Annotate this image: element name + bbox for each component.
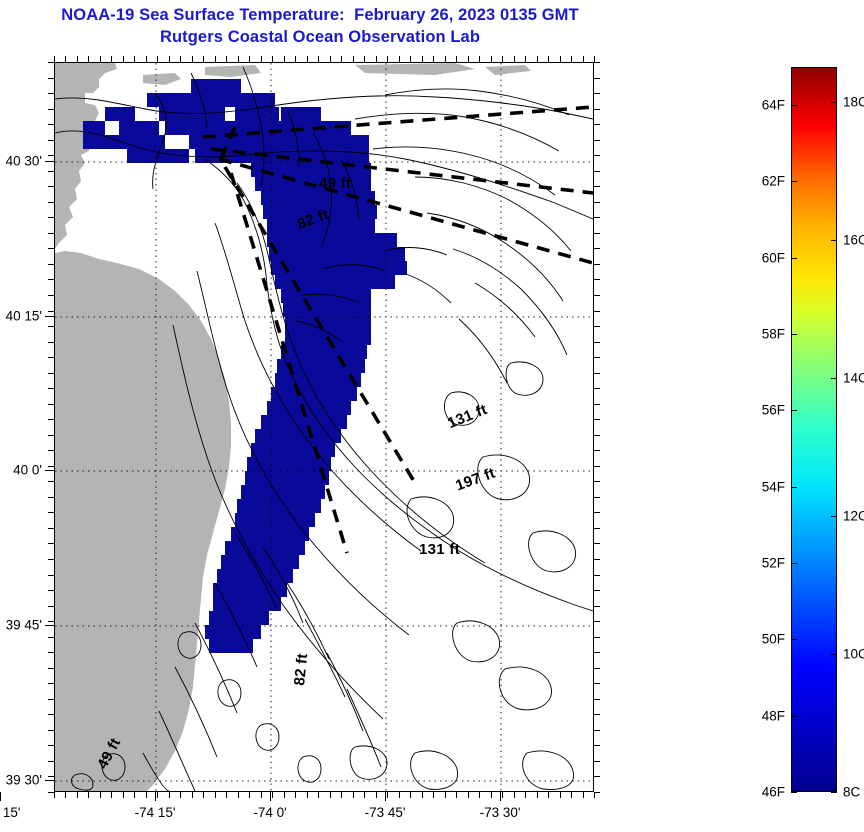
axis-tick-x (479, 792, 480, 798)
axis-tick-x (284, 56, 285, 62)
axis-tick-x (330, 56, 331, 62)
depth-label-131ft-mid: 131 ft (419, 541, 460, 558)
axis-tick-y (48, 295, 54, 296)
axis-tick-x (548, 792, 549, 798)
colorbar-label-fahrenheit: 62F (747, 174, 785, 189)
axis-tick-x (54, 792, 55, 798)
colorbar-tick-f (791, 334, 797, 335)
axis-tick-y (594, 311, 600, 312)
axis-tick-y (594, 171, 600, 172)
axis-tick-x (88, 792, 89, 798)
colorbar-label-celsius: 18C (843, 94, 864, 109)
axis-tick-y (594, 792, 600, 793)
axis-tick-x (376, 56, 377, 62)
axis-tick-x (330, 792, 331, 798)
axis-tick-x (307, 792, 308, 798)
colorbar-tick-f (791, 410, 797, 411)
axis-tick-x (226, 792, 227, 798)
colorbar-label-fahrenheit: 48F (747, 708, 785, 723)
axis-tick-x (537, 56, 538, 62)
axis-tick-y (594, 559, 600, 560)
axis-tick-y (48, 373, 54, 374)
axis-tick-y (594, 202, 600, 203)
y-axis-label: 39 45' (0, 618, 42, 633)
axis-tick-y (48, 435, 54, 436)
colorbar-label-fahrenheit: 58F (747, 327, 785, 342)
axis-tick-y (48, 404, 54, 405)
axis-tick-x (353, 56, 354, 62)
axis-tick-x (537, 792, 538, 798)
axis-tick-x (445, 792, 446, 798)
axis-tick-x (203, 792, 204, 798)
axis-tick-x (456, 792, 457, 798)
axis-tick-x (215, 792, 216, 798)
axis-tick-y (594, 419, 600, 420)
axis-tick-y (48, 606, 54, 607)
colorbar-label-celsius: 16C (843, 232, 864, 247)
axis-tick-x (364, 792, 365, 798)
axis-tick-x (341, 56, 342, 62)
page-title: NOAA-19 Sea Surface Temperature: Februar… (0, 4, 640, 48)
axis-tick-y (48, 714, 54, 715)
colorbar-tick-f (791, 105, 797, 106)
axis-tick-x (525, 56, 526, 62)
colorbar-tick-f (791, 487, 797, 488)
axis-tick-y (48, 543, 54, 544)
axis-tick-y (48, 512, 54, 513)
axis-tick-y (594, 683, 600, 684)
colorbar-label-celsius: 8C (843, 785, 860, 800)
axis-tick-y (48, 62, 54, 63)
axis-tick-x (387, 792, 388, 798)
axis-tick-x (514, 792, 515, 798)
colorbar-label-fahrenheit: 60F (747, 250, 785, 265)
axis-tick-x (146, 56, 147, 62)
axis-tick-y (594, 590, 600, 591)
axis-tick-x (468, 56, 469, 62)
axis-tick-x-major (270, 792, 271, 801)
axis-tick-x (134, 792, 135, 798)
axis-tick-y (594, 342, 600, 343)
axis-tick-x-major (385, 792, 386, 801)
axis-tick-x (422, 792, 423, 798)
axis-tick-y (48, 481, 54, 482)
colorbar-tick-c (831, 378, 837, 379)
axis-tick-y (48, 419, 54, 420)
axis-tick-y (594, 761, 600, 762)
colorbar-label-fahrenheit: 64F (747, 98, 785, 113)
colorbar-tick-c (831, 654, 837, 655)
axis-tick-y (594, 668, 600, 669)
axis-tick-y (48, 357, 54, 358)
axis-tick-y (594, 109, 600, 110)
map-canvas (55, 63, 593, 791)
axis-tick-y (594, 512, 600, 513)
axis-tick-x (491, 792, 492, 798)
axis-tick-y (48, 311, 54, 312)
axis-tick-x (65, 56, 66, 62)
axis-tick-x (445, 56, 446, 62)
axis-tick-y (48, 792, 54, 793)
colorbar-label-fahrenheit: 54F (747, 479, 785, 494)
x-axis-label: -73 30' (480, 805, 521, 820)
colorbar-tick-c (831, 102, 837, 103)
colorbar-tick-c (831, 516, 837, 517)
axis-tick-x (261, 792, 262, 798)
axis-tick-x (433, 56, 434, 62)
colorbar-tick-f (791, 792, 797, 793)
colorbar-tick-f (791, 258, 797, 259)
axis-tick-y (594, 652, 600, 653)
axis-tick-y (48, 109, 54, 110)
axis-tick-y (594, 637, 600, 638)
axis-tick-y (48, 466, 54, 467)
axis-tick-y (594, 140, 600, 141)
axis-tick-x (100, 56, 101, 62)
axis-tick-x (318, 56, 319, 62)
axis-tick-x (502, 56, 503, 62)
axis-tick-x-major (155, 792, 156, 801)
axis-tick-x (123, 792, 124, 798)
axis-tick-y (48, 388, 54, 389)
axis-tick-x (249, 56, 250, 62)
x-axis-label: -74 0' (253, 805, 286, 820)
y-axis-label: 40 15' (0, 309, 42, 324)
axis-tick-y (594, 466, 600, 467)
axis-tick-y (48, 652, 54, 653)
axis-tick-y-major (45, 780, 54, 781)
axis-tick-y (594, 78, 600, 79)
axis-tick-x (146, 792, 147, 798)
axis-tick-y (48, 776, 54, 777)
colorbar-label-celsius: 12C (843, 508, 864, 523)
axis-tick-y (594, 186, 600, 187)
axis-tick-x (180, 792, 181, 798)
axis-tick-x (65, 792, 66, 798)
axis-tick-y (48, 575, 54, 576)
axis-tick-y (48, 217, 54, 218)
axis-tick-y (48, 342, 54, 343)
axis-tick-x (180, 56, 181, 62)
axis-tick-y (48, 745, 54, 746)
colorbar-label-celsius: 14C (843, 370, 864, 385)
axis-tick-y (594, 776, 600, 777)
axis-tick-x-major (500, 792, 501, 801)
axis-tick-y (594, 357, 600, 358)
colorbar-gradient (791, 67, 837, 792)
axis-tick-x (583, 792, 584, 798)
axis-tick-x (157, 792, 158, 798)
axis-tick-y-major (45, 316, 54, 317)
y-axis-label: 40 30' (0, 154, 42, 169)
axis-tick-y (594, 404, 600, 405)
axis-tick-x (399, 56, 400, 62)
axis-tick-y (48, 637, 54, 638)
axis-tick-y (594, 543, 600, 544)
axis-tick-y (594, 62, 600, 63)
axis-tick-y (594, 295, 600, 296)
axis-tick-y (594, 326, 600, 327)
axis-tick-x (123, 56, 124, 62)
axis-tick-y (48, 683, 54, 684)
axis-tick-x (571, 56, 572, 62)
axis-tick-y (48, 621, 54, 622)
colorbar-tick-f (791, 639, 797, 640)
axis-tick-y (48, 93, 54, 94)
axis-tick-x (238, 792, 239, 798)
axis-tick-y (48, 140, 54, 141)
axis-tick-y (48, 202, 54, 203)
x-axis-label: -73 15' (0, 805, 20, 820)
axis-tick-y (594, 124, 600, 125)
axis-tick-x (491, 56, 492, 62)
axis-tick-x (192, 56, 193, 62)
colorbar-tick-c (831, 792, 837, 793)
axis-tick-y (48, 171, 54, 172)
axis-tick-x (387, 56, 388, 62)
axis-tick-x (157, 56, 158, 62)
axis-tick-x (295, 792, 296, 798)
x-axis-label: -73 45' (365, 805, 406, 820)
axis-tick-x (54, 56, 55, 62)
axis-tick-y (48, 248, 54, 249)
axis-tick-x (399, 792, 400, 798)
axis-tick-y (48, 124, 54, 125)
axis-tick-y (48, 699, 54, 700)
axis-tick-x (422, 56, 423, 62)
axis-tick-y (48, 233, 54, 234)
colorbar-label-fahrenheit: 56F (747, 403, 785, 418)
axis-tick-x (583, 56, 584, 62)
axis-tick-y (594, 575, 600, 576)
axis-tick-x (468, 792, 469, 798)
axis-tick-y (594, 435, 600, 436)
axis-tick-y (594, 714, 600, 715)
axis-tick-y (594, 745, 600, 746)
x-axis-label: -74 15' (135, 805, 176, 820)
axis-tick-y (48, 279, 54, 280)
axis-tick-x (433, 792, 434, 798)
axis-tick-x (261, 56, 262, 62)
axis-tick-y (594, 217, 600, 218)
axis-tick-x (514, 56, 515, 62)
axis-tick-x (215, 56, 216, 62)
depth-label-49ft-upper: 49 ft (319, 175, 351, 192)
axis-tick-y (594, 93, 600, 94)
axis-tick-x (548, 56, 549, 62)
axis-tick-x (560, 56, 561, 62)
axis-tick-y (594, 481, 600, 482)
axis-tick-y (594, 730, 600, 731)
colorbar-label-fahrenheit: 52F (747, 556, 785, 571)
axis-tick-x (272, 56, 273, 62)
title-line-2: Rutgers Coastal Ocean Observation Lab (0, 26, 640, 48)
axis-tick-y (594, 233, 600, 234)
colorbar-label-fahrenheit: 50F (747, 632, 785, 647)
axis-tick-y (48, 528, 54, 529)
axis-tick-x (525, 792, 526, 798)
colorbar[interactable] (791, 67, 837, 792)
axis-tick-y (48, 559, 54, 560)
axis-tick-y (48, 78, 54, 79)
axis-tick-x (203, 56, 204, 62)
axis-tick-y (48, 155, 54, 156)
axis-tick-y-major (45, 161, 54, 162)
colorbar-tick-f (791, 181, 797, 182)
axis-tick-x (479, 56, 480, 62)
axis-tick-x (169, 56, 170, 62)
axis-tick-y (48, 730, 54, 731)
axis-tick-x (341, 792, 342, 798)
colorbar-label-fahrenheit: 46F (747, 785, 785, 800)
axis-tick-y (594, 388, 600, 389)
axis-tick-y (48, 326, 54, 327)
axis-tick-y (48, 450, 54, 451)
axis-tick-x (456, 56, 457, 62)
axis-tick-x (226, 56, 227, 62)
axis-tick-y (594, 621, 600, 622)
axis-tick-y (594, 279, 600, 280)
axis-tick-x (238, 56, 239, 62)
axis-tick-y (594, 450, 600, 451)
axis-tick-y (594, 373, 600, 374)
axis-tick-x (376, 792, 377, 798)
axis-tick-x (111, 56, 112, 62)
axis-tick-x (410, 56, 411, 62)
axis-tick-x (134, 56, 135, 62)
axis-tick-y (594, 264, 600, 265)
axis-tick-y-major (45, 625, 54, 626)
depth-label-82ft-lower: 82 ft (291, 653, 311, 687)
axis-tick-x (410, 792, 411, 798)
colorbar-tick-f (791, 716, 797, 717)
axis-tick-y (594, 528, 600, 529)
axis-tick-x (169, 792, 170, 798)
axis-tick-x (111, 792, 112, 798)
axis-tick-x (307, 56, 308, 62)
axis-tick-y (48, 186, 54, 187)
axis-tick-x (192, 792, 193, 798)
axis-tick-y (48, 497, 54, 498)
colorbar-label-celsius: 10C (843, 646, 864, 661)
axis-tick-y (594, 606, 600, 607)
axis-tick-x (571, 792, 572, 798)
y-axis-label: 39 30' (0, 773, 42, 788)
y-axis-label: 40 0' (0, 463, 42, 478)
axis-tick-x (88, 56, 89, 62)
axis-tick-x (295, 56, 296, 62)
colorbar-tick-c (831, 240, 837, 241)
axis-tick-x (77, 56, 78, 62)
axis-tick-x (100, 792, 101, 798)
axis-tick-x-major (0, 792, 1, 801)
axis-tick-y (594, 699, 600, 700)
axis-tick-y (594, 155, 600, 156)
axis-tick-y (48, 668, 54, 669)
colorbar-tick-f (791, 563, 797, 564)
axis-tick-x (77, 792, 78, 798)
axis-tick-x (318, 792, 319, 798)
sst-map[interactable]: 49 ft 82 ft 131 ft 197 ft 131 ft 82 ft 4… (54, 62, 594, 792)
axis-tick-y (594, 248, 600, 249)
axis-tick-y (48, 264, 54, 265)
axis-tick-x (284, 792, 285, 798)
axis-tick-x (364, 56, 365, 62)
axis-tick-x (502, 792, 503, 798)
axis-tick-x (560, 792, 561, 798)
axis-tick-x (272, 792, 273, 798)
axis-tick-y (48, 590, 54, 591)
axis-tick-y-major (45, 470, 54, 471)
axis-tick-x (353, 792, 354, 798)
axis-tick-y (48, 761, 54, 762)
title-line-1: NOAA-19 Sea Surface Temperature: Februar… (0, 4, 640, 26)
axis-tick-y (594, 497, 600, 498)
axis-tick-x (249, 792, 250, 798)
